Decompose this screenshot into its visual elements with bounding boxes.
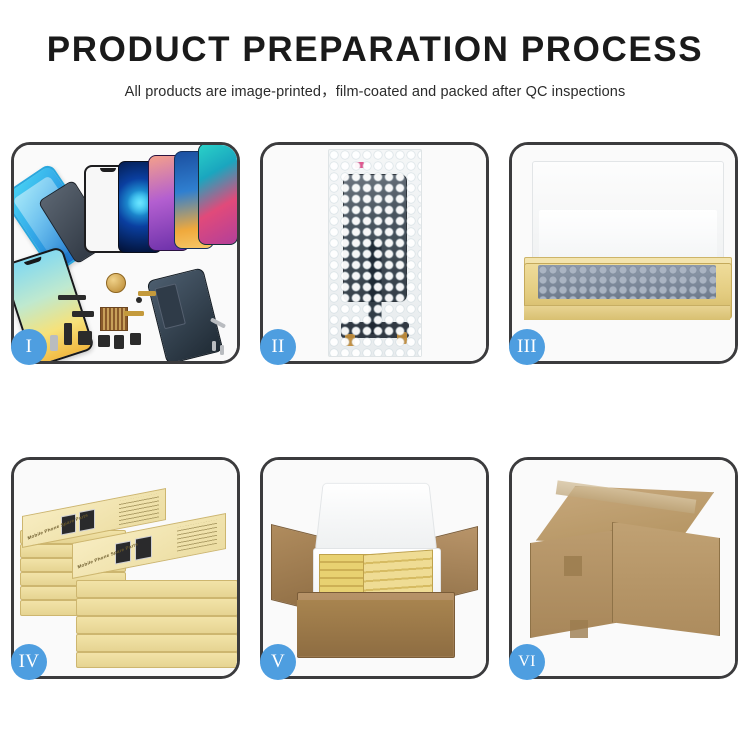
box-stack: Mobile Phone Spare Parts bbox=[20, 484, 237, 664]
step-image-5 bbox=[263, 460, 486, 676]
carton-seam-icon bbox=[564, 556, 582, 576]
antenna-flex-icon bbox=[124, 311, 144, 316]
stacked-boxes-illustration: Mobile Phone Spare Parts bbox=[14, 460, 237, 676]
step-image-6 bbox=[512, 460, 735, 676]
sealed-carton-illustration bbox=[512, 460, 735, 676]
step-image-2 bbox=[263, 145, 486, 361]
step-panel-6: VI bbox=[509, 457, 738, 679]
step-panel-2: II bbox=[260, 142, 489, 364]
step-badge-5: V bbox=[260, 644, 296, 680]
step-image-3 bbox=[512, 145, 735, 361]
step-badge-6: VI bbox=[509, 644, 545, 680]
screw-icon bbox=[220, 345, 224, 355]
home-flex-icon bbox=[64, 323, 72, 345]
screw-icon bbox=[212, 341, 216, 351]
bubble-texture bbox=[329, 150, 421, 356]
box-art-screen bbox=[135, 535, 152, 560]
page-header: PRODUCT PREPARATION PROCESS All products… bbox=[0, 0, 750, 101]
ic-chip-icon bbox=[98, 335, 110, 347]
inner-box-illustration bbox=[512, 145, 735, 361]
speaker-icon bbox=[114, 335, 124, 349]
box-front-edge-icon bbox=[524, 305, 730, 320]
carton-front-icon bbox=[297, 600, 453, 656]
step-image-1 bbox=[14, 145, 237, 361]
step-panel-3: III bbox=[509, 142, 738, 364]
stacked-box bbox=[76, 634, 237, 652]
step-badge-2: II bbox=[260, 329, 296, 365]
page-subtitle: All products are image-printed，film-coat… bbox=[0, 80, 750, 101]
phones-and-parts-illustration bbox=[14, 145, 237, 361]
stacked-box bbox=[76, 598, 237, 616]
carton-right-face-icon bbox=[612, 522, 720, 636]
step-panel-5: V bbox=[260, 457, 489, 679]
phone-teal-pink-icon bbox=[198, 145, 237, 245]
small-part-icon bbox=[130, 333, 141, 345]
process-steps-grid: I II bbox=[11, 142, 738, 679]
bubble-wrapped-screen-illustration bbox=[263, 145, 486, 361]
page-title: PRODUCT PREPARATION PROCESS bbox=[0, 32, 750, 69]
earpiece-mesh-icon bbox=[58, 295, 86, 300]
stacked-box bbox=[76, 652, 237, 668]
step-panel-1: I bbox=[11, 142, 240, 364]
flex-cable-icon bbox=[138, 291, 156, 296]
button-icon bbox=[136, 297, 142, 303]
step-image-4: Mobile Phone Spare Parts bbox=[14, 460, 237, 676]
step-badge-4: IV bbox=[11, 644, 47, 680]
carton-loading-illustration bbox=[263, 460, 486, 676]
carton-seam-icon bbox=[570, 620, 588, 638]
product-preparation-process-page: PRODUCT PREPARATION PROCESS All products… bbox=[0, 0, 750, 750]
step-panel-4: Mobile Phone Spare Parts bbox=[11, 457, 240, 679]
step-badge-1: I bbox=[11, 329, 47, 365]
stacked-box bbox=[76, 580, 237, 598]
bubble-wrapped-units-icon bbox=[538, 265, 716, 299]
stacked-box bbox=[76, 616, 237, 634]
connector-strip-icon bbox=[72, 311, 94, 317]
camera-module-icon bbox=[78, 331, 92, 345]
sim-tray-icon bbox=[50, 335, 58, 351]
bubble-wrap-bag bbox=[328, 149, 422, 357]
step-badge-3: III bbox=[509, 329, 545, 365]
vibrator-motor-icon bbox=[106, 273, 126, 293]
foam-lid-open-icon bbox=[315, 483, 437, 552]
